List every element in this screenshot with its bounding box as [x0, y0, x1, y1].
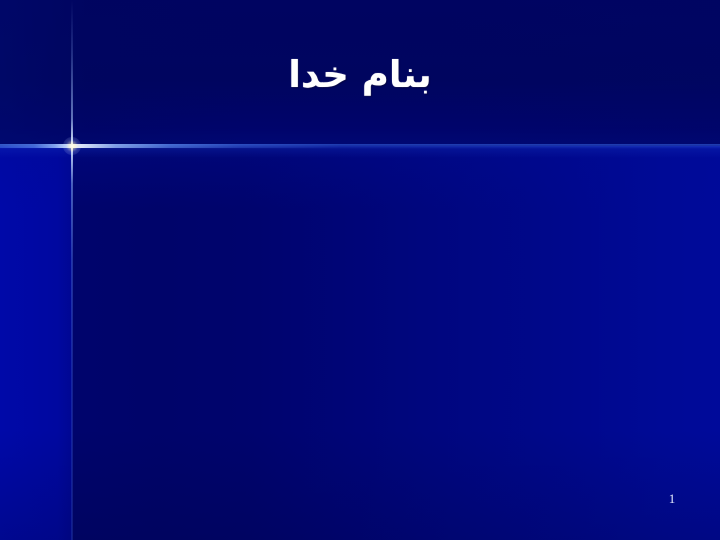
background-lower-band [0, 146, 720, 540]
slide-number: 1 [660, 491, 684, 507]
slide-title: بنام خدا [0, 52, 720, 98]
presentation-slide: بنام خدا 1 [0, 0, 720, 540]
